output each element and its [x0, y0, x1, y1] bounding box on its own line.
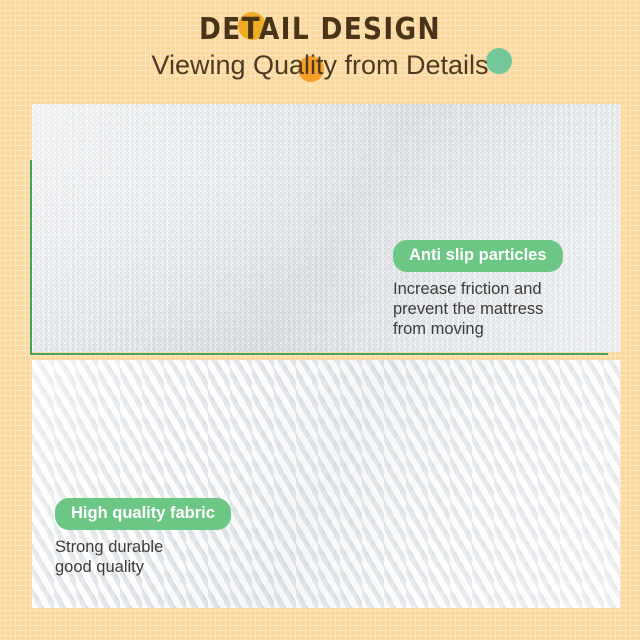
page-subtitle: Viewing Quality from Details — [0, 50, 640, 81]
badge-anti-slip-particles: Anti slip particles — [393, 240, 563, 272]
page-title: DETAIL DESIGN — [38, 12, 601, 47]
accent-line-panel-one-bottom — [30, 353, 608, 355]
page-background: DETAIL DESIGN Viewing Quality from Detai… — [0, 0, 640, 640]
description-anti-slip-particles: Increase friction and prevent the mattre… — [393, 279, 563, 339]
callout-anti-slip-particles: Anti slip particles Increase friction an… — [393, 240, 563, 339]
header: DETAIL DESIGN Viewing Quality from Detai… — [0, 0, 640, 95]
callout-high-quality-fabric: High quality fabric Strong durable good … — [55, 498, 231, 577]
description-high-quality-fabric: Strong durable good quality — [55, 537, 231, 577]
badge-high-quality-fabric: High quality fabric — [55, 498, 231, 530]
